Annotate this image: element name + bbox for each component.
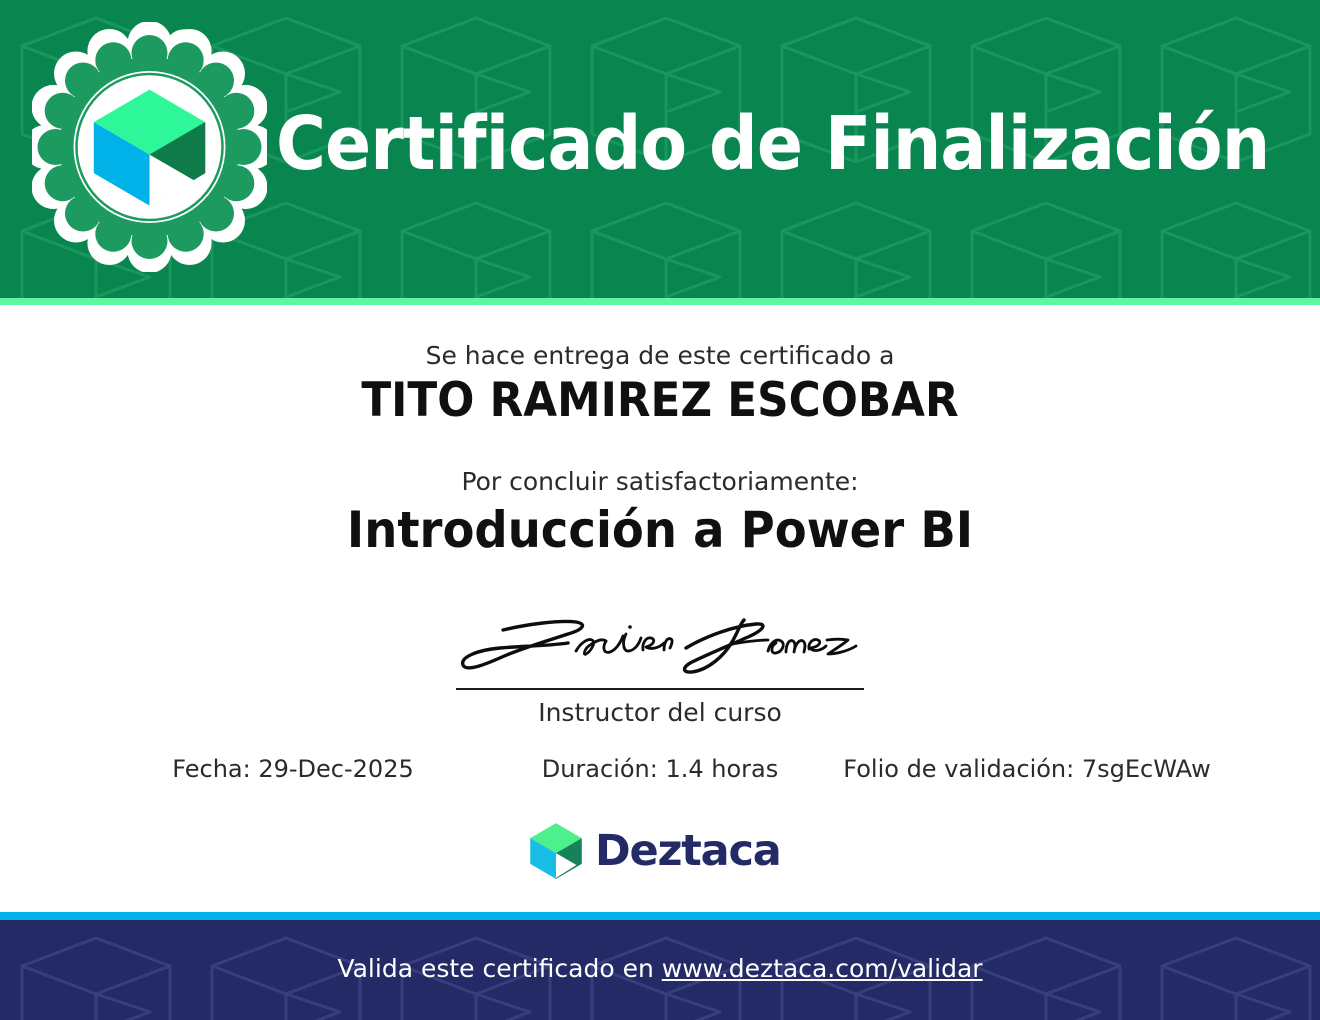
instructor-signature-icon [456, 610, 864, 683]
certificate-header: Certificado de Finalización [0, 0, 1320, 298]
certificate-footer: Valida este certificado en www.deztaca.c… [0, 920, 1320, 1020]
instructor-role-label: Instructor del curso [456, 698, 864, 727]
signature-block: Instructor del curso [456, 610, 864, 720]
footer-accent-bar [0, 912, 1320, 920]
recipient-lead-text: Se hace entrega de este certificado a [0, 341, 1320, 370]
footer-prefix-label: Valida este certificado en [337, 954, 661, 983]
deztaca-logo-icon [527, 822, 585, 880]
brand-wordmark: Deztaca [595, 824, 781, 878]
validation-folio-text: Folio de validación: 7sgEcWAw [842, 755, 1212, 783]
issue-date-text: Fecha: 29-Dec-2025 [108, 755, 478, 783]
footer-validation-text: Valida este certificado en www.deztaca.c… [0, 954, 1320, 983]
course-lead-text: Por concluir satisfactoriamente: [0, 467, 1320, 496]
signature-divider-line [456, 688, 864, 690]
duration-text: Duración: 1.4 horas [478, 755, 842, 783]
brand-lockup: Deztaca [527, 820, 793, 882]
header-accent-bar [0, 298, 1320, 305]
certificate-body: Se hace entrega de este certificado a TI… [0, 305, 1320, 912]
page-title: Certificado de Finalización [276, 96, 1196, 192]
certificate-meta-row: Fecha: 29-Dec-2025 Duración: 1.4 horas F… [0, 755, 1320, 795]
certificate-page: Certificado de Finalización Se hace entr… [0, 0, 1320, 1020]
validation-url-link[interactable]: www.deztaca.com/validar [662, 954, 983, 983]
seal-badge-icon [32, 22, 267, 272]
course-name: Introducción a Power BI [46, 501, 1274, 559]
recipient-name: TITO RAMIREZ ESCOBAR [46, 373, 1274, 428]
